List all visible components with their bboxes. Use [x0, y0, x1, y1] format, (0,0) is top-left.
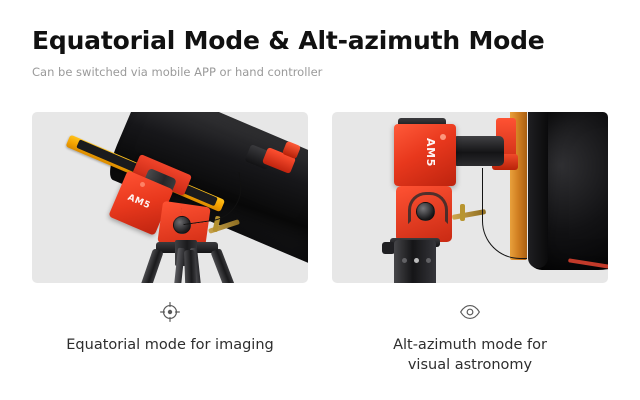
tripod-leg — [137, 248, 164, 283]
page-subtitle: Can be switched via mobile APP or hand c… — [32, 64, 608, 80]
pier-screw — [414, 258, 419, 263]
equatorial-mode-photo: AM5 — [32, 112, 308, 283]
crosshair-target-icon — [159, 301, 181, 323]
eye-icon — [459, 301, 481, 323]
page-title: Equatorial Mode & Alt-azimuth Mode — [32, 26, 608, 56]
page-root: Equatorial Mode & Alt-azimuth Mode Can b… — [0, 0, 640, 400]
pier-screw — [402, 258, 407, 263]
mount-indicator-dot — [440, 134, 446, 140]
mode-card-list: AM5 — [32, 112, 608, 375]
latitude-adjuster-knob — [460, 204, 465, 221]
mount-indicator-dot — [140, 182, 145, 187]
equatorial-telescope-illustration: AM5 — [32, 112, 308, 283]
telescope-tube-rim — [528, 112, 548, 268]
dec-axis-tube — [452, 136, 504, 166]
tripod-leg — [210, 248, 237, 283]
mode-card-equatorial: AM5 — [32, 112, 308, 375]
alt-azimuth-mode-photo: AM5 — [332, 112, 608, 283]
alt-azimuth-caption-line2: visual astronomy — [408, 357, 532, 373]
tripod-leg — [184, 250, 197, 283]
pier-screw — [426, 258, 431, 263]
clutch-knob — [416, 202, 435, 221]
alt-azimuth-caption-line1: Alt-azimuth mode for — [393, 337, 547, 353]
alt-azimuth-telescope-illustration: AM5 — [332, 112, 608, 283]
equatorial-mode-caption: Equatorial mode for imaging — [66, 335, 273, 355]
header: Equatorial Mode & Alt-azimuth Mode Can b… — [32, 26, 608, 80]
mode-card-alt-azimuth: AM5 — [332, 112, 608, 375]
mount-brand-logo: AM5 — [424, 138, 437, 167]
alt-azimuth-mode-caption: Alt-azimuth mode for visual astronomy — [393, 335, 547, 375]
power-cable — [482, 168, 527, 259]
